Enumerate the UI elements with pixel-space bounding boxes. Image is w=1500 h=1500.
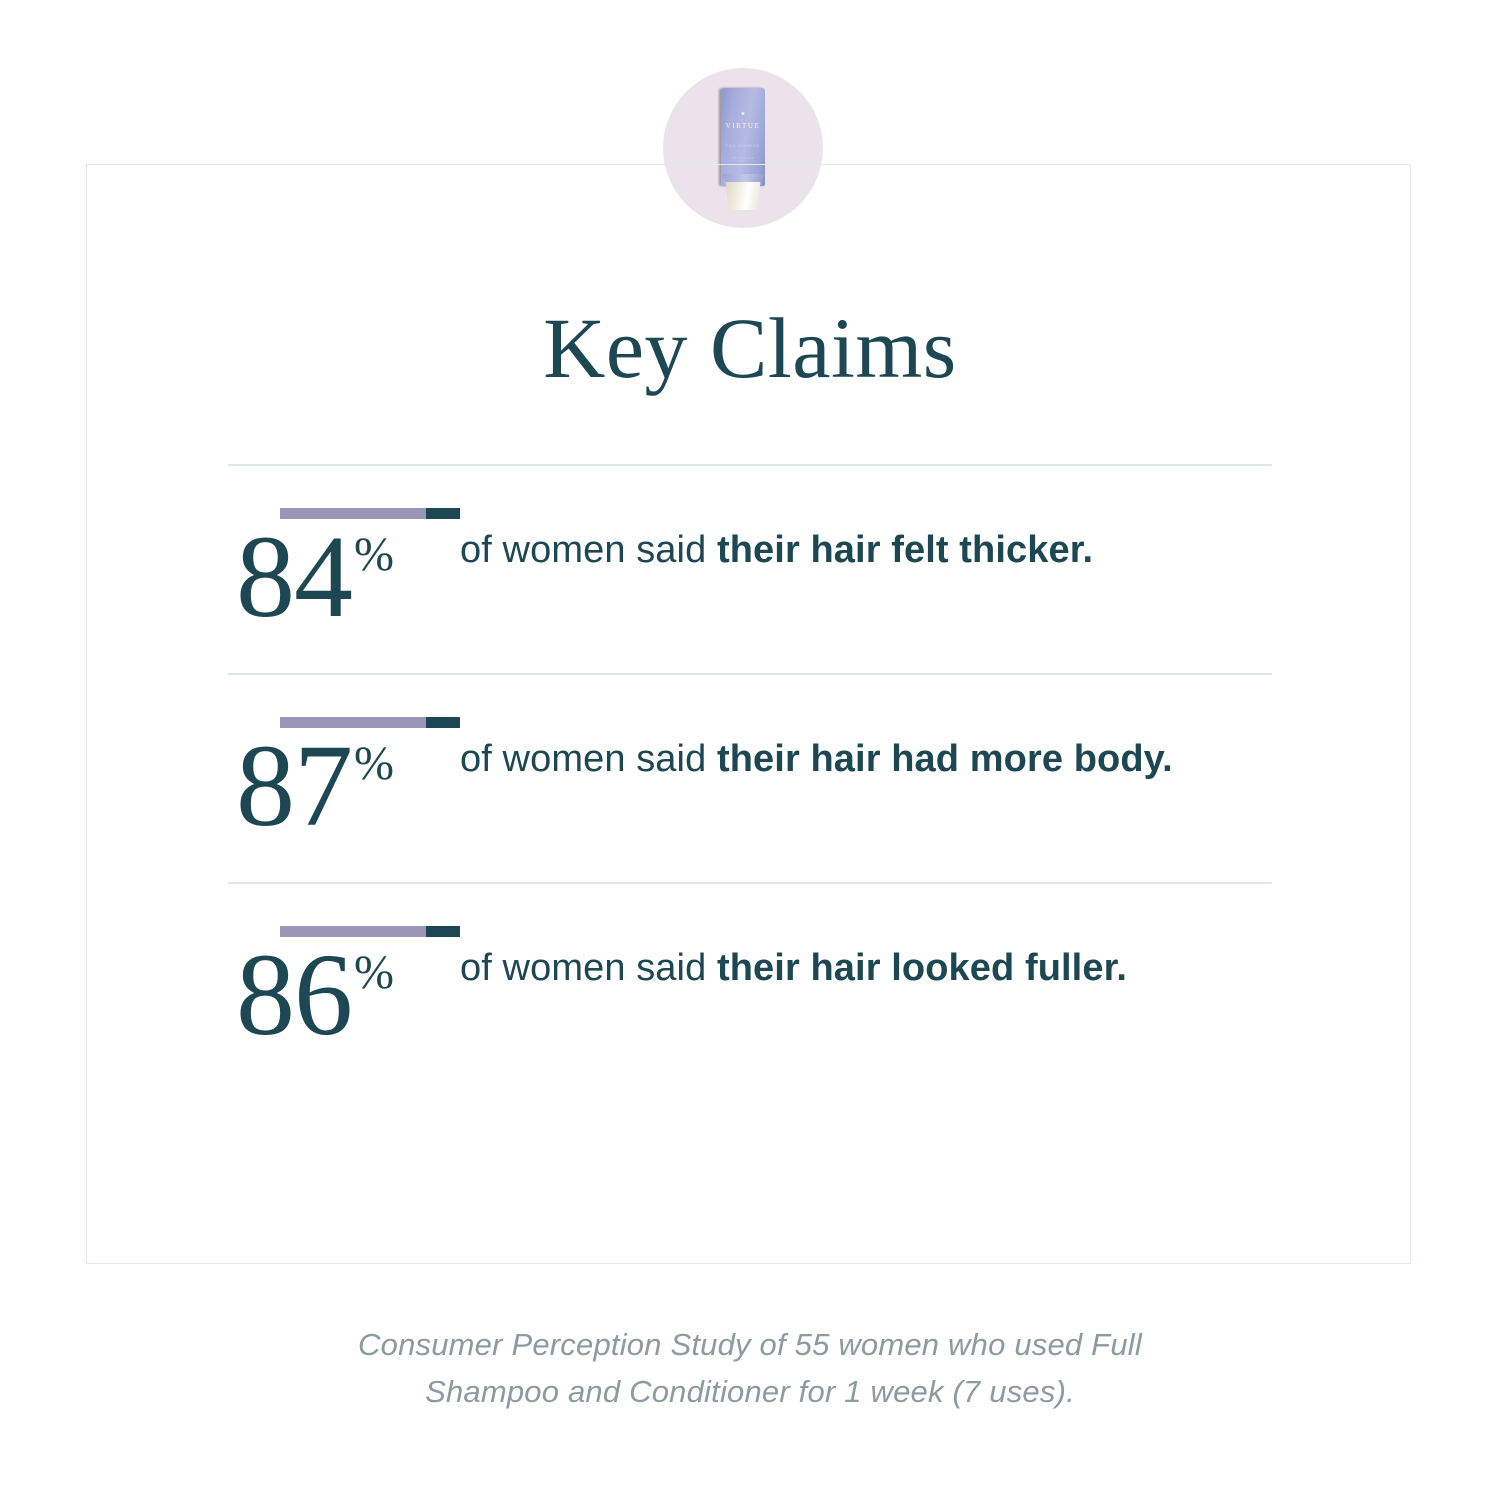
stat-percent-symbol: % xyxy=(354,531,394,579)
claim-text-bold: their hair looked fuller. xyxy=(717,947,1127,989)
claim-text-lead: of women said xyxy=(460,738,717,780)
stat-bar-dark-segment xyxy=(426,717,460,728)
claims-list: 84 % of women said their hair felt thick… xyxy=(228,464,1272,1090)
stat-bar-dark-segment xyxy=(426,926,460,937)
stat-block: 84 % xyxy=(228,508,460,629)
stat-number-wrap: 86 % xyxy=(228,943,460,1047)
tube-logo-text: VIRTUE xyxy=(721,122,765,130)
claim-text-lead: of women said xyxy=(460,947,717,989)
footnote-line-2: Shampoo and Conditioner for 1 week (7 us… xyxy=(0,1369,1500,1416)
claim-text-bold: their hair had more body. xyxy=(717,738,1173,780)
stat-bar-dark-segment xyxy=(426,508,460,519)
tube-line-1-text: FULL SHAMPOO xyxy=(721,144,765,148)
stat-percent-symbol: % xyxy=(354,949,394,997)
stat-number-wrap: 87 % xyxy=(228,734,460,838)
study-footnote: Consumer Perception Study of 55 women wh… xyxy=(0,1322,1500,1415)
page-title: Key Claims xyxy=(0,305,1500,391)
claim-text: of women said their hair looked fuller. xyxy=(460,926,1272,996)
stat-value: 86 xyxy=(236,943,352,1047)
tube-line-2-text: VOLUMIZING xyxy=(721,156,765,160)
claim-text-lead: of women said xyxy=(460,529,717,571)
claim-text: of women said their hair felt thicker. xyxy=(460,508,1272,578)
stat-block: 86 % xyxy=(228,926,460,1047)
key-claims-infographic: VIRTUE FULL SHAMPOO VOLUMIZING Key Claim… xyxy=(0,0,1500,1500)
footnote-line-1: Consumer Perception Study of 55 women wh… xyxy=(0,1322,1500,1369)
stat-value: 84 xyxy=(236,525,352,629)
claim-text-bold: their hair felt thicker. xyxy=(717,529,1093,571)
stat-percent-symbol: % xyxy=(354,740,394,788)
tube-dot-icon xyxy=(742,112,745,115)
stat-value: 87 xyxy=(236,734,352,838)
claim-row: 86 % of women said their hair looked ful… xyxy=(228,884,1272,1091)
stat-number-wrap: 84 % xyxy=(228,525,460,629)
stat-block: 87 % xyxy=(228,717,460,838)
claim-row: 84 % of women said their hair felt thick… xyxy=(228,466,1272,673)
claim-row: 87 % of women said their hair had more b… xyxy=(228,675,1272,882)
claim-text: of women said their hair had more body. xyxy=(460,717,1272,787)
